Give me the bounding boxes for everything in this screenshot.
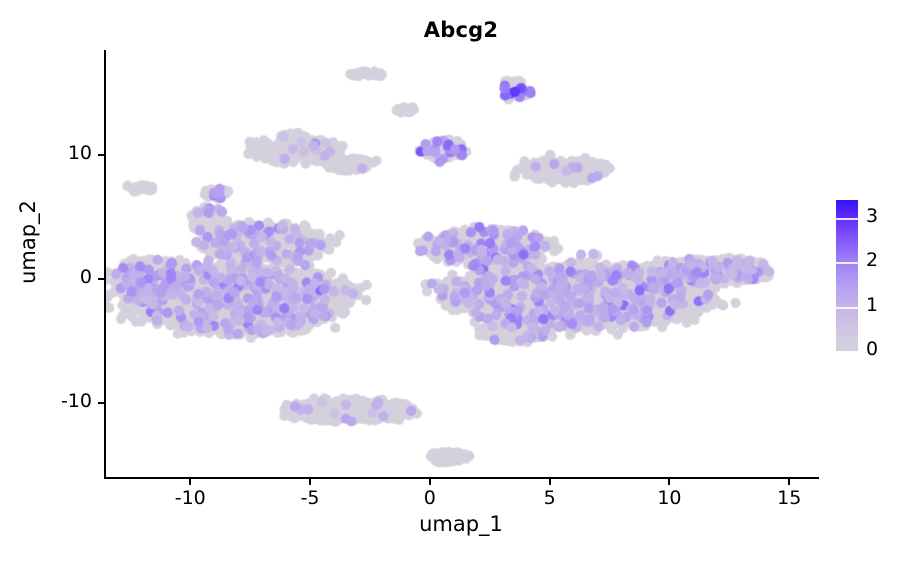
colorbar-tick-mark — [836, 307, 858, 309]
colorbar-tick-label: 3 — [866, 205, 878, 227]
x-tick-label: 0 — [400, 487, 460, 509]
x-tick-label: 10 — [639, 487, 699, 509]
colorbar-tick-label: 2 — [866, 249, 878, 271]
scatter-plot-area — [104, 50, 818, 478]
y-tick-mark — [98, 154, 104, 156]
y-axis-label: umap_2 — [16, 122, 40, 362]
page-title: Abcg2 — [104, 18, 818, 42]
colorbar-tick-mark — [836, 262, 858, 264]
y-tick-label: 10 — [34, 142, 92, 164]
x-tick-mark — [549, 479, 551, 485]
figure-canvas: Abcg2 -10-5051015 100-10 umap_1 umap_2 0… — [0, 0, 911, 562]
x-tick-label: -5 — [280, 487, 340, 509]
x-axis-spine — [104, 477, 819, 479]
x-tick-mark — [668, 479, 670, 485]
y-axis-spine — [104, 50, 106, 479]
x-tick-mark — [189, 479, 191, 485]
colorbar-tick-mark — [836, 218, 858, 220]
colorbar-gradient — [836, 200, 858, 351]
x-tick-mark — [788, 479, 790, 485]
y-tick-label: 0 — [34, 266, 92, 288]
y-tick-label: -10 — [34, 390, 92, 412]
x-axis-label: umap_1 — [104, 512, 818, 536]
x-tick-mark — [309, 479, 311, 485]
x-tick-mark — [429, 479, 431, 485]
x-tick-label: 5 — [520, 487, 580, 509]
colorbar-tick-label: 0 — [866, 338, 878, 360]
x-tick-label: -10 — [160, 487, 220, 509]
x-tick-label: 15 — [759, 487, 819, 509]
y-tick-mark — [98, 402, 104, 404]
y-tick-mark — [98, 278, 104, 280]
colorbar-tick-label: 1 — [866, 294, 878, 316]
